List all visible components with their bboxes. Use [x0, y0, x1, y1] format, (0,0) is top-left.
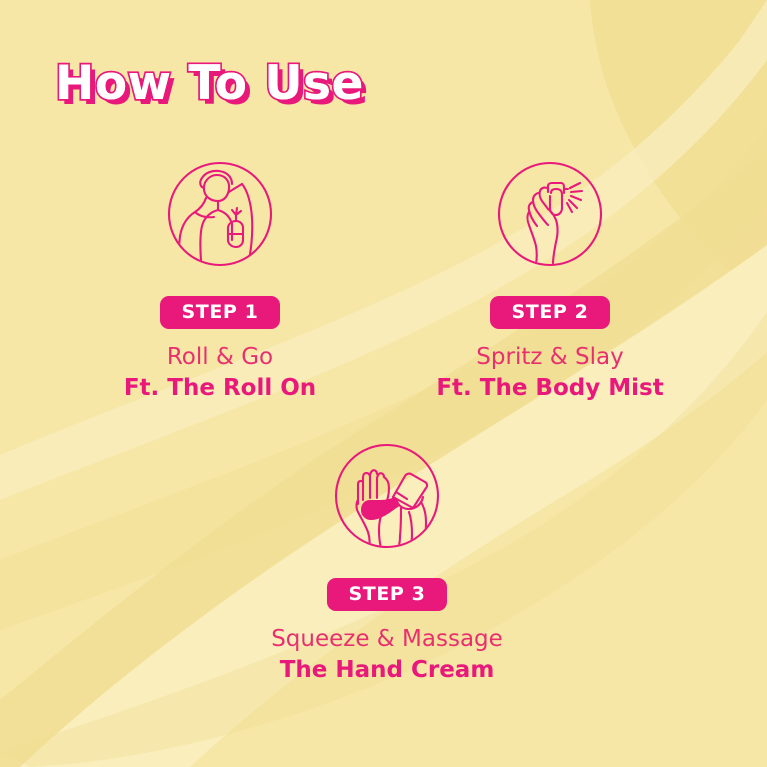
how-to-use-poster: How To Use How To Use How To Use — [0, 0, 767, 767]
step-card-1: STEP 1 Roll & Go Ft. The Roll On — [70, 160, 370, 402]
step-card-3: STEP 3 Squeeze & Massage The Hand Cream — [237, 442, 537, 684]
woman-applying-roll-on-icon — [166, 160, 274, 268]
step-product-2: Ft. The Body Mist — [400, 375, 700, 402]
step-badge-2: STEP 2 — [490, 296, 611, 329]
step-badge-3: STEP 3 — [327, 578, 448, 611]
step-card-2: STEP 2 Spritz & Slay Ft. The Body Mist — [400, 160, 700, 402]
hands-squeezing-cream-tube-icon — [333, 442, 441, 550]
step-title-2: Spritz & Slay — [400, 344, 700, 371]
step-product-3: The Hand Cream — [237, 657, 537, 684]
hand-spraying-mist-icon — [496, 160, 604, 268]
step-title-3: Squeeze & Massage — [237, 626, 537, 653]
step-badge-1: STEP 1 — [160, 296, 281, 329]
page-title-text: How To Use — [55, 55, 364, 113]
step-product-1: Ft. The Roll On — [70, 375, 370, 402]
page-title: How To Use How To Use How To Use — [55, 55, 475, 117]
step-title-1: Roll & Go — [70, 344, 370, 371]
